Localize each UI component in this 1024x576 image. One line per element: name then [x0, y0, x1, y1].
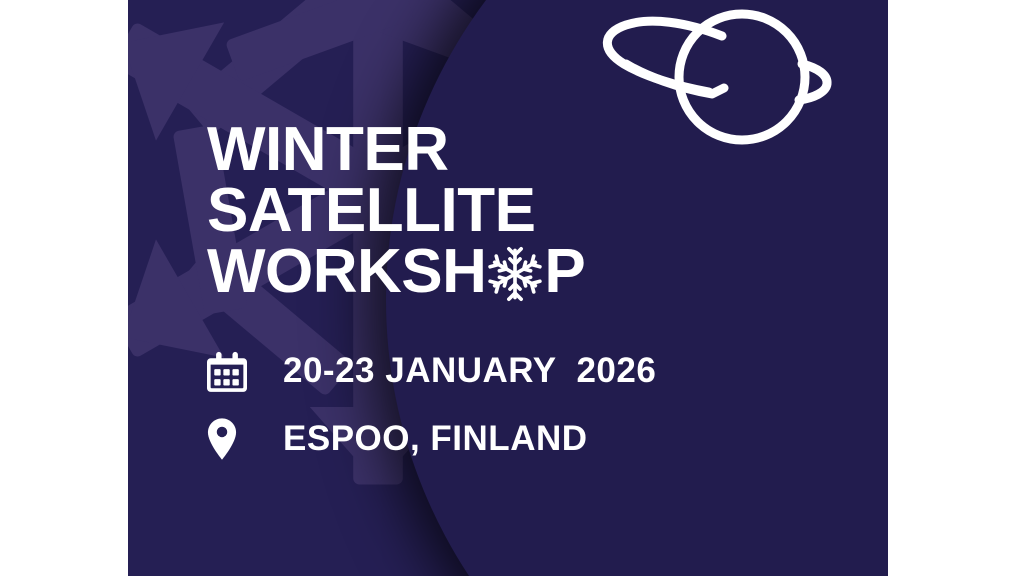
- event-location-row: ESPOO, FINLAND: [207, 416, 827, 462]
- poster-content: WINTER SATELLITE WORKSH: [207, 120, 827, 484]
- poster-panel: WINTER SATELLITE WORKSH: [128, 0, 888, 576]
- title-line-3-after: P: [544, 242, 585, 303]
- poster-canvas: WINTER SATELLITE WORKSH: [0, 0, 1024, 576]
- calendar-icon: [207, 348, 249, 394]
- saturn-planet-icon: [546, 0, 846, 142]
- event-details: 20-23 JANUARY 2026 ESPOO, FINLAND: [207, 348, 827, 462]
- title-line-3: WORKSH: [207, 242, 827, 303]
- event-location: ESPOO, FINLAND: [283, 419, 588, 459]
- snowflake-icon: [486, 245, 544, 303]
- map-pin-icon: [207, 416, 249, 462]
- event-date-row: 20-23 JANUARY 2026: [207, 348, 827, 394]
- title-line-2: SATELLITE: [207, 181, 827, 242]
- title-line-3-before: WORKSH: [207, 242, 486, 303]
- event-date: 20-23 JANUARY 2026: [283, 351, 656, 391]
